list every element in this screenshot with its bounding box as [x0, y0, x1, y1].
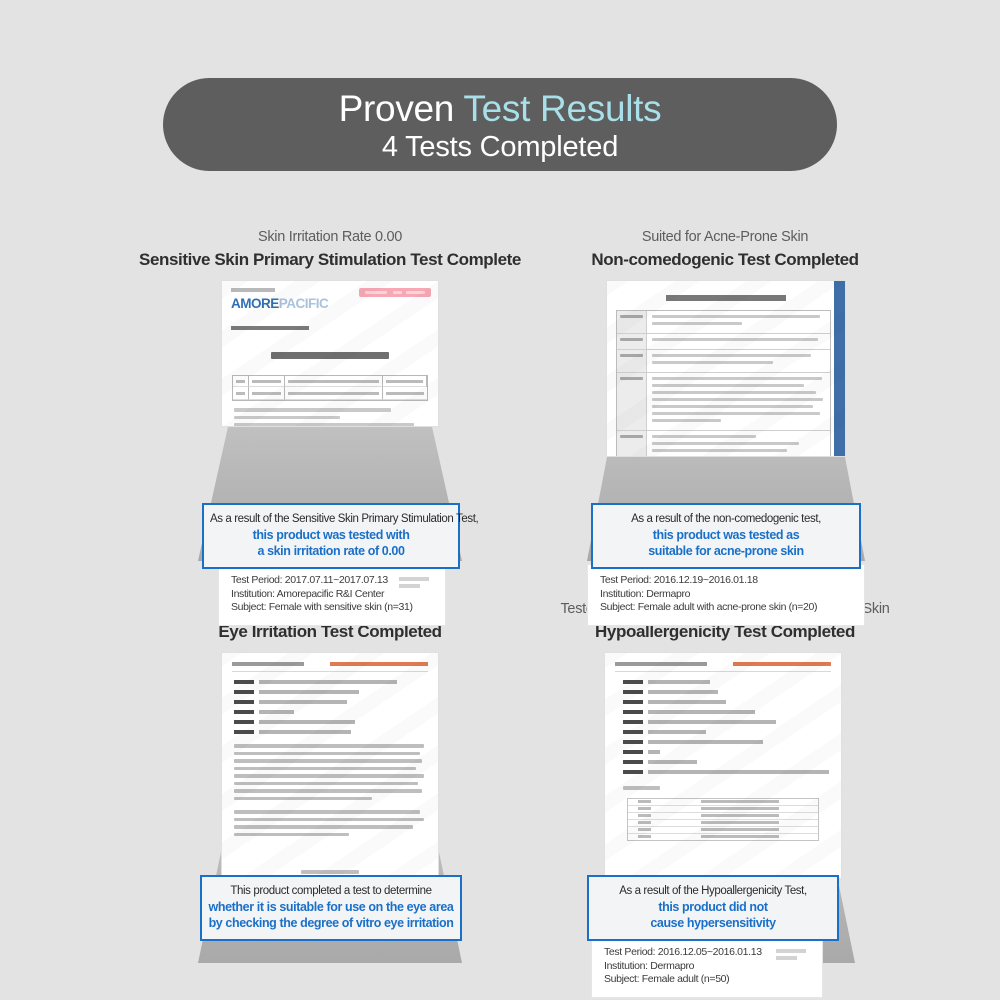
test-card-eye-irritation: Suited for Sensitive Eye Area Eye Irrita… — [130, 599, 530, 963]
document-subheading — [623, 786, 829, 790]
test-meta-box: Test Period: 2016.12.05~2016.01.13 Insti… — [591, 936, 823, 998]
meta-subject: Subject: Female adult with acne-prone sk… — [600, 601, 852, 615]
document-header — [232, 662, 428, 666]
callout-line-1: this product did not — [595, 899, 831, 915]
document-number — [615, 662, 707, 666]
table-row — [617, 350, 830, 373]
table-row-value — [647, 311, 830, 333]
document-header — [615, 662, 831, 666]
table-row — [617, 431, 830, 456]
meta-stamp-icon — [776, 949, 806, 965]
document-divider — [232, 671, 428, 672]
document-edge-accent — [834, 281, 845, 456]
meta-stamp-icon — [399, 577, 429, 593]
table-row-label — [617, 334, 647, 349]
banner-title: Proven Test Results — [339, 88, 662, 130]
table-row — [617, 311, 830, 334]
document-banner-accent — [359, 288, 431, 297]
corporate-mark-icon — [231, 288, 275, 292]
callout-line-2: suitable for acne-prone skin — [599, 543, 853, 559]
document-confidential-mark — [733, 662, 831, 666]
document-field-list — [623, 680, 829, 774]
callout-line-2: by checking the degree of vitro eye irri… — [208, 915, 454, 931]
list-item — [234, 690, 426, 694]
document-heading — [666, 295, 786, 301]
result-callout: As a result of the Sensitive Skin Primar… — [202, 503, 460, 569]
document-field-list — [234, 680, 426, 734]
card-visual-stage: As a result of the Hypoallergenicity Tes… — [505, 653, 945, 963]
callout-line-2: a skin irritation rate of 0.00 — [210, 543, 452, 559]
meta-test-period: Test Period: 2016.12.19~2016.01.18 — [600, 574, 852, 588]
certificate-document-hypoallergenicity — [605, 653, 841, 878]
table-row-label — [617, 350, 647, 372]
result-callout: As a result of the non-comedogenic test,… — [591, 503, 861, 569]
result-callout: As a result of the Hypoallergenicity Tes… — [587, 875, 839, 941]
card-title: Sensitive Skin Primary Stimulation Test … — [130, 248, 530, 272]
document-table — [616, 310, 831, 456]
document-divider — [615, 671, 831, 672]
document-number — [232, 662, 304, 666]
document-confidential-mark — [330, 662, 428, 666]
test-meta-box: Test Period: 2016.12.19~2016.01.18 Insti… — [587, 564, 865, 626]
table-row-value — [647, 334, 830, 349]
table-row — [617, 334, 830, 350]
callout-line-2: cause hypersensitivity — [595, 915, 831, 931]
document-paragraph — [234, 744, 426, 800]
table-row-value — [647, 350, 830, 372]
document-footnotes — [234, 408, 426, 426]
callout-intro: This product completed a test to determi… — [208, 884, 454, 899]
card-subtitle: Skin Irritation Rate 0.00 — [130, 227, 530, 247]
list-item — [623, 690, 829, 694]
card-visual-stage: This product completed a test to determi… — [130, 653, 530, 963]
logo-text-primary: AMORE — [231, 296, 279, 311]
table-row-label — [617, 311, 647, 333]
callout-intro: As a result of the non-comedogenic test, — [599, 512, 853, 527]
proven-test-results-page: Proven Test Results 4 Tests Completed Sk… — [0, 0, 1000, 1000]
callout-line-1: this product was tested as — [599, 527, 853, 543]
table-row-label — [617, 431, 647, 456]
meta-institution: Institution: Dermapro — [600, 588, 852, 602]
certificate-document-report — [607, 281, 845, 456]
amorepacific-logo: AMOREPACIFIC — [231, 297, 429, 311]
list-item — [234, 700, 426, 704]
banner-title-accent: Test Results — [463, 88, 661, 129]
test-card-hypoallergenicity: Tested Whether It Causes Hypersensitivit… — [505, 599, 945, 963]
result-callout: This product completed a test to determi… — [200, 875, 462, 941]
list-item — [623, 730, 829, 734]
table-row — [628, 827, 818, 834]
document-table — [627, 798, 819, 841]
card-visual-stage: AMOREPACIFIC As a — [130, 281, 530, 561]
table-row — [628, 806, 818, 813]
list-item — [234, 720, 426, 724]
header-banner: Proven Test Results 4 Tests Completed — [163, 78, 837, 171]
list-item — [623, 740, 829, 744]
document-paragraph — [234, 810, 426, 836]
list-item — [623, 680, 829, 684]
list-item — [234, 730, 426, 734]
document-heading — [271, 352, 389, 359]
card-visual-stage: As a result of the non-comedogenic test,… — [525, 281, 925, 561]
test-card-non-comedogenic: Suited for Acne-Prone Skin Non-comedogen… — [525, 227, 925, 561]
card-title: Non-comedogenic Test Completed — [525, 248, 925, 272]
list-item — [623, 760, 829, 764]
callout-line-1: whether it is suitable for use on the ey… — [208, 899, 454, 915]
table-row-label — [617, 373, 647, 430]
test-meta-box: Test Period: 2017.07.11~2017.07.13 Insti… — [218, 564, 446, 626]
list-item — [623, 700, 829, 704]
callout-intro: As a result of the Hypoallergenicity Tes… — [595, 884, 831, 899]
list-item — [234, 680, 426, 684]
callout-line-1: this product was tested with — [210, 527, 452, 543]
list-item — [234, 710, 426, 714]
table-row — [628, 813, 818, 820]
document-table — [232, 375, 428, 401]
table-row — [628, 799, 818, 806]
banner-subtitle: 4 Tests Completed — [382, 130, 618, 164]
table-row — [617, 373, 830, 431]
table-row — [628, 834, 818, 840]
list-item — [623, 770, 829, 774]
test-card-sensitive-skin: Skin Irritation Rate 0.00 Sensitive Skin… — [130, 227, 530, 561]
list-item — [623, 720, 829, 724]
banner-title-plain: Proven — [339, 88, 464, 129]
document-number — [231, 326, 309, 330]
logo-text-secondary: PACIFIC — [279, 296, 329, 311]
table-row-value — [647, 373, 830, 430]
list-item — [623, 710, 829, 714]
list-item — [623, 750, 829, 754]
meta-subject: Subject: Female adult (n=50) — [604, 973, 810, 987]
card-subtitle: Suited for Acne-Prone Skin — [525, 227, 925, 247]
table-row-value — [647, 431, 830, 456]
callout-intro: As a result of the Sensitive Skin Primar… — [210, 512, 452, 527]
table-row — [628, 820, 818, 827]
meta-subject: Subject: Female with sensitive skin (n=3… — [231, 601, 433, 615]
certificate-document-amorepacific: AMOREPACIFIC — [222, 281, 438, 426]
